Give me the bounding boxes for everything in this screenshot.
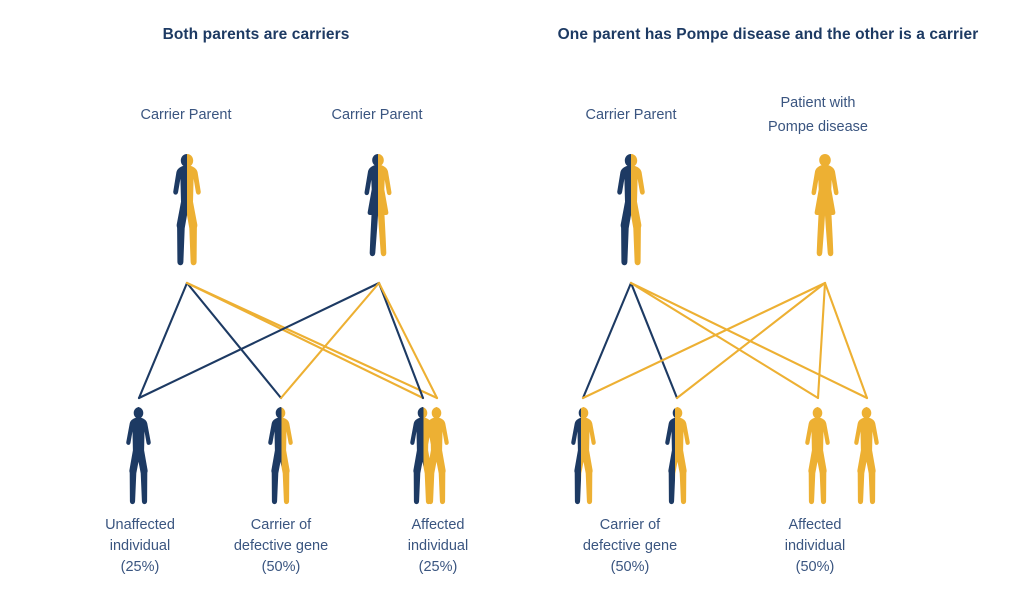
parent-label-2: Patient with Pompe disease bbox=[728, 91, 908, 139]
child-figure-carrier-1 bbox=[262, 405, 301, 510]
parent-figure-male-carrier bbox=[610, 152, 652, 282]
parent-label-1: Carrier Parent bbox=[96, 103, 276, 127]
child-figure-affected-1 bbox=[799, 405, 838, 510]
panel-one-parent-affected: One parent has Pompe disease and the oth… bbox=[512, 0, 1024, 613]
inheritance-diagram: Both parents are carriers Carrier Parent… bbox=[0, 0, 1024, 613]
panel-title: Both parents are carriers bbox=[0, 23, 512, 46]
child-label-affected: Affected individual (25%) bbox=[353, 515, 523, 578]
child-figure-unaffected bbox=[120, 405, 159, 510]
parent-figure-male-carrier bbox=[166, 152, 208, 282]
child-figure-affected bbox=[418, 405, 457, 510]
parent-label-1: Carrier Parent bbox=[541, 103, 721, 127]
child-label-affected: Affected individual (50%) bbox=[730, 515, 900, 578]
parent-figure-female-affected bbox=[805, 152, 845, 282]
child-figure-affected-2 bbox=[848, 405, 887, 510]
child-figure-carrier-1 bbox=[565, 405, 604, 510]
panel-title: One parent has Pompe disease and the oth… bbox=[512, 23, 1024, 46]
parent-figure-female-carrier bbox=[358, 152, 398, 282]
child-label-carrier: Carrier of defective gene (50%) bbox=[196, 515, 366, 578]
panel-both-parents-carriers: Both parents are carriers Carrier Parent… bbox=[0, 0, 512, 613]
child-figure-carrier-2 bbox=[659, 405, 698, 510]
parent-label-2: Carrier Parent bbox=[287, 103, 467, 127]
child-label-carrier: Carrier of defective gene (50%) bbox=[545, 515, 715, 578]
